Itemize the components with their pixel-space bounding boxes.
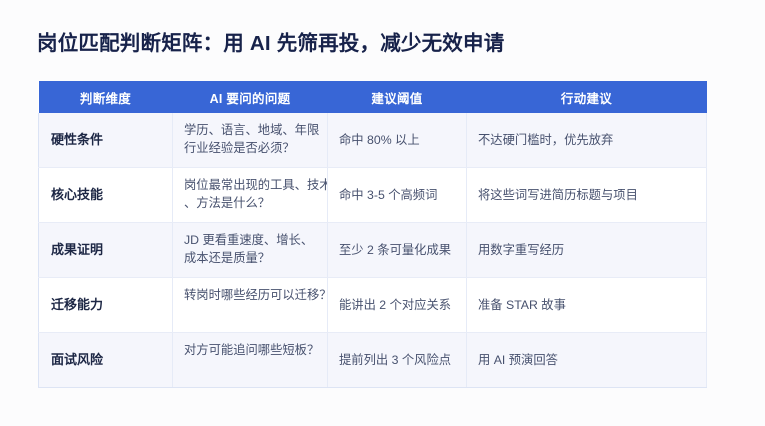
cell-threshold-text: 至少 2 条可量化成果 <box>339 241 466 259</box>
cell-ai-question-line1: 学历、语言、地域、年限 <box>184 123 319 137</box>
cell-ai-question-line2: 行业经验是否必须？ <box>184 139 328 157</box>
cell-ai-question-line1: 对方可能追问哪些短板？ <box>184 343 319 357</box>
job-match-matrix-table: 判断维度 AI 要问的问题 建议阈值 行动建议 硬性条件 学历、语言、地域、年限… <box>38 81 707 388</box>
table-row: 成果证明 JD 更看重速度、增长、 成本还是质量？ 至少 2 条可量化成果 用数… <box>39 223 707 278</box>
cell-ai-question-text: 学历、语言、地域、年限 行业经验是否必须？ <box>184 121 328 159</box>
cell-ai-question-line2: 、方法是什么？ <box>184 194 328 212</box>
cell-action-text: 准备 STAR 故事 <box>478 296 706 314</box>
table-row: 面试风险 对方可能追问哪些短板？ 提前列出 3 个风险点 用 AI 预演回答 <box>39 333 707 388</box>
cell-ai-question: 对方可能追问哪些短板？ <box>173 333 328 388</box>
cell-ai-question-line1: JD 更看重速度、增长、 <box>184 233 313 247</box>
table-row: 核心技能 岗位最常出现的工具、技术 、方法是什么？ 命中 3-5 个高频词 将这… <box>39 168 707 223</box>
cell-action: 将这些词写进简历标题与项目 <box>467 168 707 223</box>
cell-ai-question-line1: 转岗时哪些经历可以迁移？ <box>184 288 328 302</box>
cell-ai-question-line1: 岗位最常出现的工具、技术 <box>184 178 328 192</box>
table-header: 判断维度 AI 要问的问题 建议阈值 行动建议 <box>39 81 707 113</box>
cell-ai-question-line2: 成本还是质量？ <box>184 249 328 267</box>
cell-ai-question-text: 对方可能追问哪些短板？ <box>184 341 328 379</box>
cell-threshold-text: 命中 3-5 个高频词 <box>339 186 466 204</box>
table-body: 硬性条件 学历、语言、地域、年限 行业经验是否必须？ 命中 80% 以上 不达硬… <box>39 113 707 388</box>
column-header-ai-question: AI 要问的问题 <box>173 81 328 113</box>
page-title: 岗位匹配判断矩阵：用 AI 先筛再投，减少无效申请 <box>37 26 504 56</box>
cell-ai-question: 学历、语言、地域、年限 行业经验是否必须？ <box>173 113 328 168</box>
cell-action-text: 将这些词写进简历标题与项目 <box>478 186 706 204</box>
cell-action-text: 用 AI 预演回答 <box>478 351 706 369</box>
cell-action: 准备 STAR 故事 <box>467 278 707 333</box>
cell-ai-question: 转岗时哪些经历可以迁移？ <box>173 278 328 333</box>
cell-action-text: 用数字重写经历 <box>478 241 706 259</box>
cell-threshold: 命中 80% 以上 <box>328 113 467 168</box>
cell-ai-question: 岗位最常出现的工具、技术 、方法是什么？ <box>173 168 328 223</box>
cell-threshold: 命中 3-5 个高频词 <box>328 168 467 223</box>
cell-dimension: 硬性条件 <box>39 113 173 168</box>
cell-threshold-text: 能讲出 2 个对应关系 <box>339 296 466 314</box>
table-header-row: 判断维度 AI 要问的问题 建议阈值 行动建议 <box>39 81 707 113</box>
cell-ai-question-text: 岗位最常出现的工具、技术 、方法是什么？ <box>184 176 328 214</box>
cell-dimension: 迁移能力 <box>39 278 173 333</box>
cell-action: 不达硬门槛时，优先放弃 <box>467 113 707 168</box>
cell-ai-question-text: 转岗时哪些经历可以迁移？ <box>184 286 328 324</box>
cell-dimension: 面试风险 <box>39 333 173 388</box>
cell-threshold: 能讲出 2 个对应关系 <box>328 278 467 333</box>
cell-dimension: 成果证明 <box>39 223 173 278</box>
cell-threshold: 至少 2 条可量化成果 <box>328 223 467 278</box>
column-header-threshold: 建议阈值 <box>328 81 467 113</box>
cell-threshold-text: 命中 80% 以上 <box>339 131 466 149</box>
cell-action: 用数字重写经历 <box>467 223 707 278</box>
cell-ai-question: JD 更看重速度、增长、 成本还是质量？ <box>173 223 328 278</box>
cell-threshold: 提前列出 3 个风险点 <box>328 333 467 388</box>
matrix-table-container: 判断维度 AI 要问的问题 建议阈值 行动建议 硬性条件 学历、语言、地域、年限… <box>38 81 706 388</box>
table-row: 硬性条件 学历、语言、地域、年限 行业经验是否必须？ 命中 80% 以上 不达硬… <box>39 113 707 168</box>
table-row: 迁移能力 转岗时哪些经历可以迁移？ 能讲出 2 个对应关系 准备 STAR 故事 <box>39 278 707 333</box>
cell-dimension: 核心技能 <box>39 168 173 223</box>
cell-action-text: 不达硬门槛时，优先放弃 <box>478 131 706 149</box>
cell-action: 用 AI 预演回答 <box>467 333 707 388</box>
column-header-action: 行动建议 <box>467 81 707 113</box>
column-header-dimension: 判断维度 <box>39 81 173 113</box>
slide-canvas: 岗位匹配判断矩阵：用 AI 先筛再投，减少无效申请 判断维度 AI 要问的问题 … <box>0 0 765 426</box>
cell-ai-question-text: JD 更看重速度、增长、 成本还是质量？ <box>184 231 328 269</box>
cell-threshold-text: 提前列出 3 个风险点 <box>339 351 466 369</box>
